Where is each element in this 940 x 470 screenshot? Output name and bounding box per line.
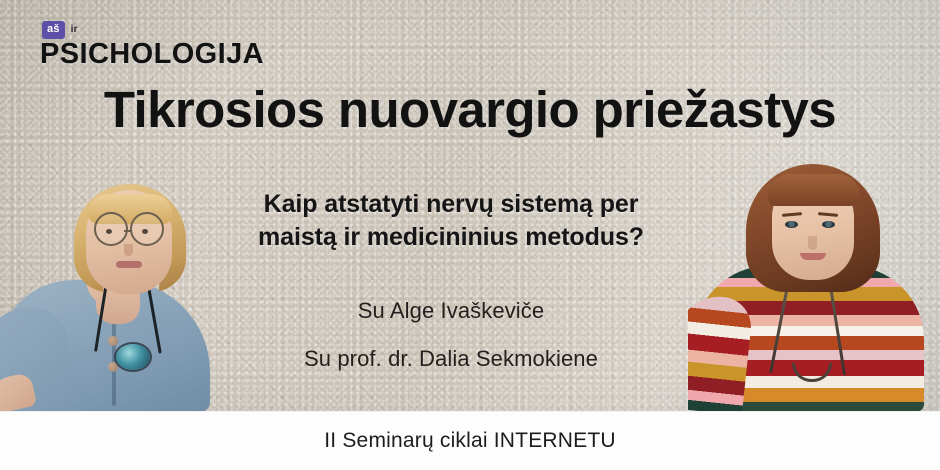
brand-badge-ir: ir [71, 24, 78, 35]
right-speaker-eye-right [822, 221, 835, 228]
left-speaker-button-2 [108, 336, 118, 346]
seminar-poster: aš ir PSICHOLOGIJA Tikrosios nuovargio p… [0, 0, 940, 470]
right-speaker-eye-left [785, 221, 798, 228]
photo-right-speaker [688, 147, 940, 412]
brand-logo: aš ir PSICHOLOGIJA [40, 21, 264, 69]
brand-badge-as: aš [42, 21, 65, 39]
left-speaker-mouth [116, 261, 142, 268]
right-speaker-sleeve [688, 292, 754, 412]
left-speaker-button-3 [108, 362, 118, 372]
poster-footer-bar: II Seminarų ciklai INTERNETU [0, 411, 940, 470]
left-speaker-nose [124, 244, 133, 256]
left-speaker-necklace-pendant [116, 344, 150, 370]
right-speaker-mouth [800, 253, 826, 260]
poster-subtitle-line-1: Kaip atstatyti nervų sistemą per [206, 188, 696, 221]
right-speaker-nose [808, 236, 817, 250]
poster-subtitle-line-2: maistą ir medicininius metodus? [206, 221, 696, 254]
left-speaker-glasses-lens-right [130, 212, 164, 246]
right-speaker-bangs [768, 174, 860, 206]
speaker-name-2: Su prof. dr. Dalia Sekmokiene [206, 348, 696, 370]
left-speaker-glasses-lens-left [94, 212, 128, 246]
poster-title: Tikrosios nuovargio priežastys [0, 84, 940, 135]
poster-subtitle: Kaip atstatyti nervų sistemą per maistą … [206, 188, 696, 254]
brand-logo-top-row: aš ir [42, 21, 264, 38]
photo-left-speaker [0, 154, 220, 412]
poster-footer-text: II Seminarų ciklai INTERNETU [324, 429, 616, 453]
speaker-name-1: Su Alge Ivaškeviče [206, 300, 696, 322]
speaker-list: Su Alge Ivaškeviče Su prof. dr. Dalia Se… [206, 300, 696, 370]
left-speaker-glasses-bridge [124, 230, 132, 233]
brand-wordmark: PSICHOLOGIJA [40, 40, 264, 69]
